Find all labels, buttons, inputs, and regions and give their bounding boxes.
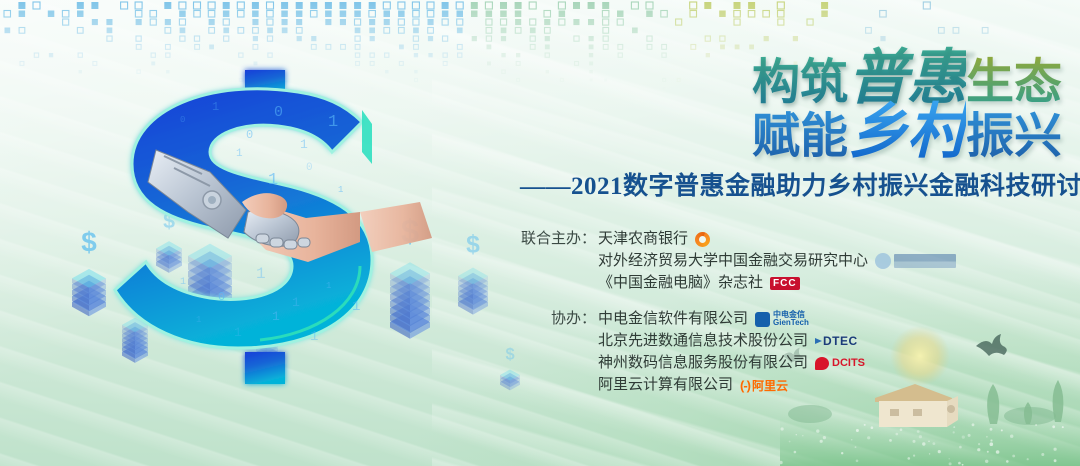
svg-text:1: 1 — [328, 113, 338, 132]
organizer-name: 神州数码信息服务股份有限公司 — [598, 352, 808, 374]
svg-text:1: 1 — [338, 185, 343, 195]
svg-text:0: 0 — [218, 290, 225, 304]
svg-text:$: $ — [505, 345, 514, 363]
dtec-logo-text: DTEC — [815, 334, 858, 348]
svg-text:1: 1 — [300, 137, 308, 152]
organizer-item: 天津农商银行 — [598, 228, 956, 250]
aliyun-logo-bracket: (-) — [740, 378, 750, 393]
fcc-logo-text: FCC — [770, 277, 800, 290]
organizers-block: 联合主办： 天津农商银行 对外经济贸易大学中国金融交易研究中心 《中国金融电脑》… — [520, 228, 1068, 396]
svg-text:1: 1 — [196, 315, 201, 325]
organizer-row-main: 联合主办： 天津农商银行 对外经济贸易大学中国金融交易研究中心 《中国金融电脑》… — [520, 228, 1068, 294]
svg-text:1: 1 — [310, 329, 318, 345]
gientech-logo-sub: GienTech — [773, 318, 809, 327]
organizer-items-support: 中电金信软件有限公司 中电金信 GienTech 北京先进数通信息技术股份公司 — [598, 308, 865, 396]
organizer-item: 对外经济贸易大学中国金融交易研究中心 — [598, 250, 956, 272]
dcits-logo-text: DCITS — [832, 357, 865, 369]
title-line-2: 赋能乡村振兴 — [752, 102, 1062, 162]
svg-text:1: 1 — [234, 325, 242, 340]
svg-text:0: 0 — [274, 104, 283, 121]
uibe-seal-logo-icon — [875, 252, 956, 270]
title-seg-zhenxing: 振兴 — [966, 110, 1062, 163]
organizer-name: 对外经济贸易大学中国金融交易研究中心 — [598, 250, 868, 272]
svg-text:$: $ — [81, 227, 97, 258]
organizer-name: 天津农商银行 — [598, 228, 688, 250]
poster-title: 构筑普惠生态 赋能乡村振兴 — [520, 40, 1068, 160]
fcc-logo-icon: FCC — [770, 274, 800, 292]
dcits-logo-icon: DCITS — [815, 354, 865, 372]
aliyun-logo-icon: (-) 阿里云 — [740, 376, 788, 394]
organizer-item: 《中国金融电脑》杂志社 FCC — [598, 272, 956, 294]
aliyun-logo-text: 阿里云 — [752, 377, 788, 394]
organizer-name: 阿里云计算有限公司 — [598, 374, 733, 396]
organizer-item: 北京先进数通信息技术股份公司 DTEC — [598, 330, 865, 352]
svg-text:1: 1 — [292, 295, 300, 310]
svg-text:0: 0 — [180, 115, 185, 125]
organizer-item: 神州数码信息服务股份有限公司 DCITS — [598, 352, 865, 374]
organizer-label-main: 联合主办： — [520, 228, 596, 250]
svg-text:$: $ — [466, 231, 480, 258]
title-seg-xiangcun: 乡村 — [848, 98, 966, 165]
svg-text:1: 1 — [180, 277, 186, 288]
svg-text:1: 1 — [272, 309, 280, 324]
organizer-name: 北京先进数通信息技术股份公司 — [598, 330, 808, 352]
svg-text:1: 1 — [326, 281, 331, 291]
svg-text:1: 1 — [236, 148, 243, 160]
spiral-orange-logo-icon — [695, 230, 710, 248]
dollar-sign-handshake-illustration: $ $ — [60, 52, 530, 422]
organizer-item: 中电金信软件有限公司 中电金信 GienTech — [598, 308, 865, 330]
title-seg-funeng: 赋能 — [752, 110, 848, 163]
organizer-name: 《中国金融电脑》杂志社 — [598, 272, 763, 294]
svg-text:0: 0 — [306, 162, 313, 174]
organizer-item: 阿里云计算有限公司 (-) 阿里云 — [598, 374, 865, 396]
organizer-label-support: 协办： — [520, 308, 596, 330]
svg-text:1: 1 — [212, 100, 219, 114]
svg-text:1: 1 — [352, 299, 360, 315]
poster-canvas: $ $ — [0, 0, 1080, 466]
svg-text:1: 1 — [268, 171, 278, 190]
organizer-name: 中电金信软件有限公司 — [598, 308, 748, 330]
text-content-column: 构筑普惠生态 赋能乡村振兴 ——2021数字普惠金融助力乡村振兴金融科技研讨会 … — [520, 40, 1068, 410]
organizer-row-support: 协办： 中电金信软件有限公司 中电金信 GienTech — [520, 308, 1068, 396]
svg-text:1: 1 — [256, 265, 266, 283]
dtec-logo-icon: DTEC — [815, 332, 858, 350]
poster-subtitle: ——2021数字普惠金融助力乡村振兴金融科技研讨会 — [520, 166, 1068, 202]
gientech-logo-icon: 中电金信 GienTech — [755, 310, 809, 328]
svg-text:0: 0 — [246, 128, 253, 142]
organizer-items-main: 天津农商银行 对外经济贸易大学中国金融交易研究中心 《中国金融电脑》杂志社 FC… — [598, 228, 956, 294]
